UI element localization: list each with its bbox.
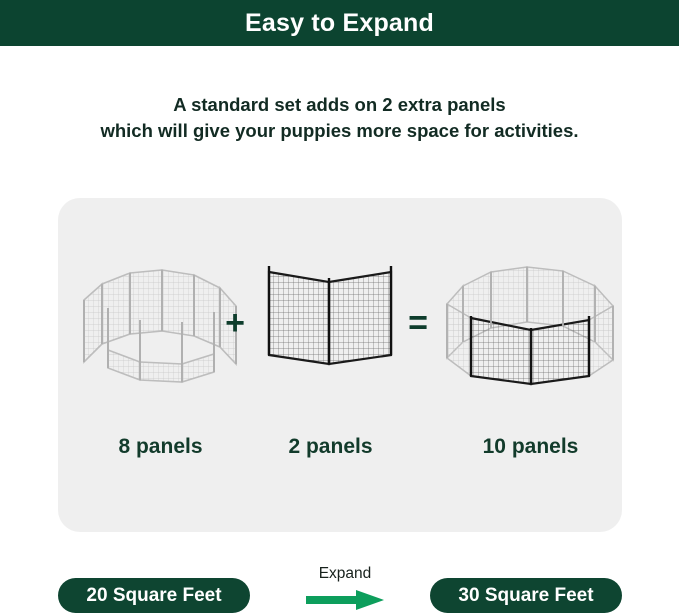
playpen-10-panel-icon: [443, 258, 618, 388]
panel-count-label-10: 10 panels: [443, 433, 618, 461]
panel-labels-row: 8 panels 2 panels 10 panels: [58, 433, 622, 463]
subtitle-line-2: which will give your puppies more space …: [0, 118, 679, 144]
right-arrow-icon: [306, 589, 384, 611]
panel-count-label-8: 8 panels: [78, 433, 243, 461]
playpen-2-panel-icon: [263, 258, 398, 388]
subtitle-line-1: A standard set adds on 2 extra panels: [0, 92, 679, 118]
page-title: Easy to Expand: [245, 11, 434, 36]
footer-row: 20 Square Feet Expand 30 Square Feet: [0, 556, 679, 616]
expand-indicator: Expand: [290, 564, 400, 616]
plus-operator-icon: +: [215, 258, 255, 388]
area-badge-after: 30 Square Feet: [430, 578, 622, 613]
subtitle-block: A standard set adds on 2 extra panels wh…: [0, 92, 679, 144]
area-badge-before: 20 Square Feet: [58, 578, 250, 613]
equals-operator-icon: =: [398, 258, 438, 388]
expansion-diagram-card: + =: [58, 198, 622, 532]
expand-label: Expand: [290, 564, 400, 584]
panel-count-label-2: 2 panels: [263, 433, 398, 461]
figure-row: + =: [58, 258, 622, 388]
header-banner: Easy to Expand: [0, 0, 679, 46]
